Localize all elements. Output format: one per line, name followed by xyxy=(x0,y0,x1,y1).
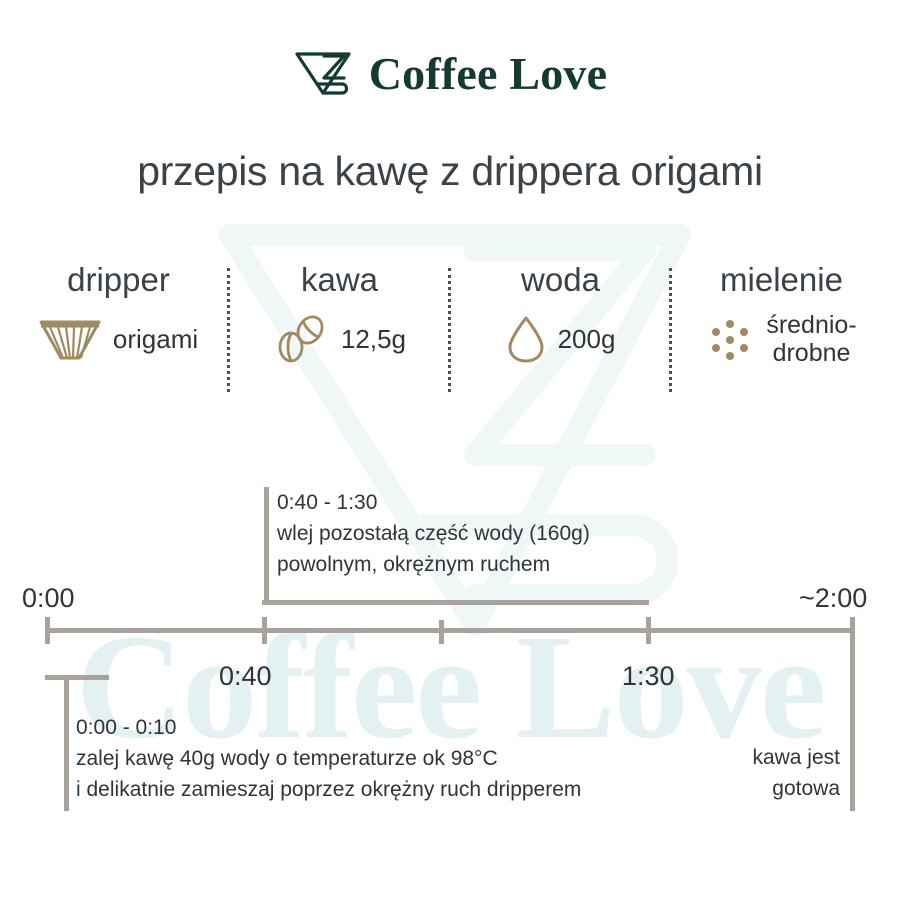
step-2-line-1: wlej pozostałą część wody (160g) xyxy=(277,518,707,549)
step-2-span-bar xyxy=(262,600,649,605)
step-2-range: 0:40 - 1:30 xyxy=(277,487,707,518)
timeline-label-0-40: 0:40 xyxy=(219,661,272,692)
timeline-end-bar xyxy=(850,617,855,811)
final-note-line-1: kawa jest xyxy=(620,742,840,773)
step-2-connector xyxy=(264,487,269,603)
step-1-line-2: i delikatnie zamieszaj poprzez okrężny r… xyxy=(76,774,696,805)
timeline-step-2: 0:40 - 1:30 wlej pozostałą część wody (1… xyxy=(277,487,707,580)
final-note-line-2: gotowa xyxy=(620,773,840,804)
timeline-label-start: 0:00 xyxy=(22,583,75,614)
brew-timeline: 0:40 - 1:30 wlej pozostałą część wody (1… xyxy=(0,0,900,900)
step-1-line-1: zalej kawę 40g wody o temperaturze ok 98… xyxy=(76,743,696,774)
timeline-tick-0-40 xyxy=(262,617,267,644)
timeline-label-end: ~2:00 xyxy=(799,583,867,614)
step-1-range: 0:00 - 0:10 xyxy=(76,712,696,743)
timeline-step-1: 0:00 - 0:10 zalej kawę 40g wody o temper… xyxy=(76,712,696,805)
timeline-axis xyxy=(45,628,853,633)
timeline-tick-unlabeled xyxy=(439,620,444,644)
step-1-connector xyxy=(64,675,69,811)
timeline-label-1-30: 1:30 xyxy=(622,661,675,692)
timeline-final-note: kawa jest gotowa xyxy=(620,742,840,804)
step-1-span-bar xyxy=(45,675,109,680)
timeline-tick-1-30 xyxy=(646,617,651,644)
step-2-line-2: powolnym, okrężnym ruchem xyxy=(277,549,707,580)
